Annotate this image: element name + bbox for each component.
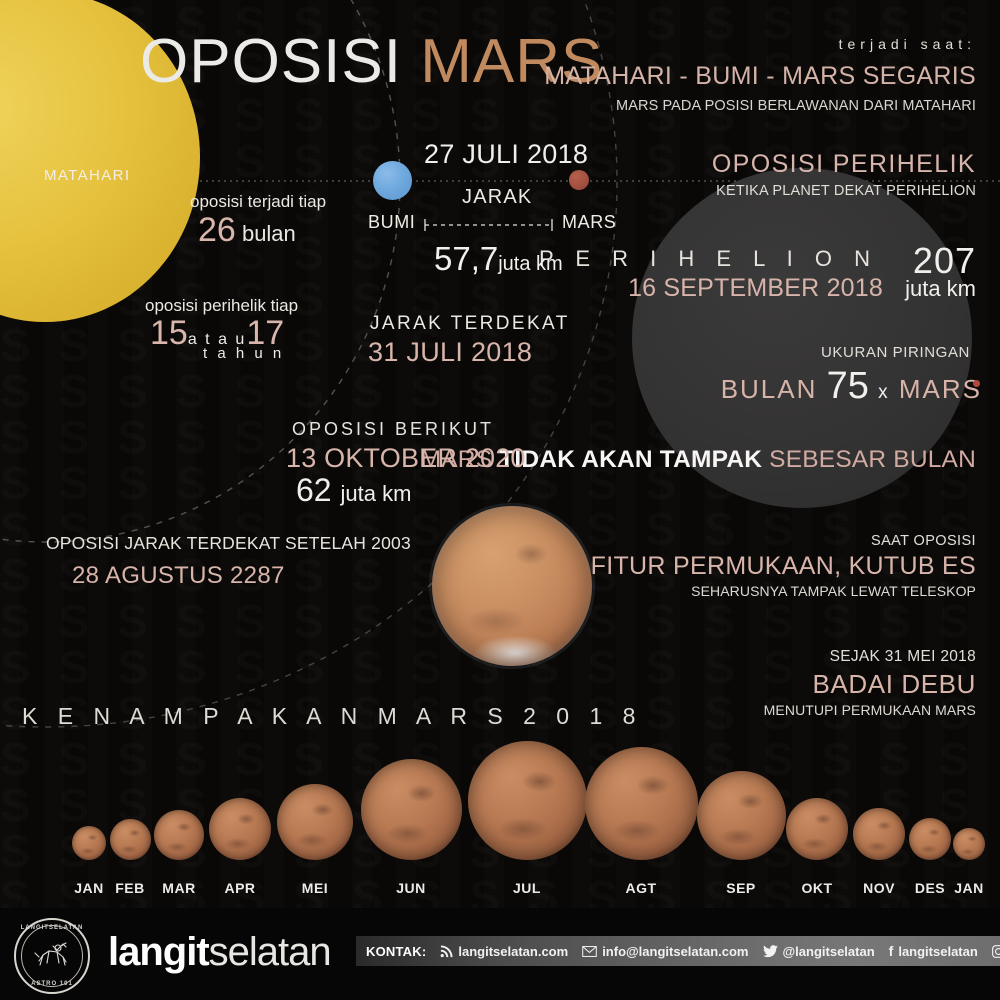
mars-disk-label-nov: NOV	[854, 880, 904, 896]
contact-website-text: langitselatan.com	[458, 944, 568, 959]
logo-bottom-text: ASTRO 101	[16, 981, 88, 987]
langitselatan-logo-badge: LANGITSELATAN ASTRO 101	[14, 918, 90, 994]
mail-icon	[582, 946, 597, 957]
brand-wordmark: langitselatan	[108, 930, 331, 975]
mars-disk-jan	[72, 826, 106, 860]
closest-date: 31 JULI 2018	[368, 337, 532, 368]
mars-disk-label-feb: FEB	[105, 880, 155, 896]
brand-part-selatan: selatan	[209, 930, 331, 974]
mars-apparent-size-chart: JANFEBMARAPRMEIJUNJULAGTSEPOKTNOVDESJAN	[0, 752, 1000, 912]
contact-email-text: info@langitselatan.com	[602, 944, 748, 959]
appearance-heading: K E N A M P A K A N M A R S 2 0 1 8	[22, 703, 642, 730]
mars-disk-label-mei: MEI	[290, 880, 340, 896]
contact-item-website[interactable]: langitselatan.com	[440, 944, 568, 959]
contact-label: KONTAK:	[366, 944, 426, 959]
contact-item-twitter[interactable]: @langitselatan	[763, 944, 875, 959]
mars-disk-agt	[585, 747, 698, 860]
mars-disk-mar	[154, 810, 204, 860]
distance-unit: juta km	[498, 253, 562, 275]
mars-disk-jun	[361, 759, 462, 860]
closest-label: JARAK TERDEKAT	[370, 313, 570, 335]
mars-disk-label-jan: JAN	[944, 880, 994, 896]
mars-disk-mei	[277, 784, 353, 860]
mars-disk-label-okt: OKT	[792, 880, 842, 896]
mars-disk-jan	[953, 828, 985, 860]
mars-disk-sep	[697, 771, 786, 860]
mars-disk-label-apr: APR	[215, 880, 265, 896]
mars-disk-nov	[853, 808, 905, 860]
distance-value-line: 57,7juta km	[434, 240, 563, 278]
next-opposition-distance: 62 juta km	[296, 472, 411, 509]
twitter-icon	[763, 945, 778, 958]
next-opposition-value: 62	[296, 472, 332, 508]
contact-facebook-text: langitselatan	[898, 944, 977, 959]
mars-disk-label-jun: JUN	[386, 880, 436, 896]
instagram-icon	[992, 945, 1000, 958]
mars-disk-des	[909, 818, 951, 860]
sagittarius-centaur-icon	[33, 941, 71, 971]
mars-disk-label-sep: SEP	[716, 880, 766, 896]
mars-disk-label-agt: AGT	[616, 880, 666, 896]
closest-after-2003-date: 28 AGUSTUS 2287	[72, 562, 285, 590]
logo-top-text: LANGITSELATAN	[16, 925, 88, 931]
contact-item-facebook[interactable]: f langitselatan	[889, 944, 978, 959]
mars-disk-feb	[110, 819, 151, 860]
contact-twitter-text: @langitselatan	[783, 944, 875, 959]
contact-item-email[interactable]: info@langitselatan.com	[582, 944, 748, 959]
next-opposition-date: 13 OKTOBER 2020	[286, 443, 526, 474]
next-opposition-unit: juta km	[340, 481, 411, 506]
next-opposition-label: OPOSISI BERIKUT	[292, 419, 494, 440]
mars-disk-label-mar: MAR	[154, 880, 204, 896]
mars-telescope-image	[432, 506, 592, 666]
mars-disk-apr	[209, 798, 271, 860]
facebook-icon: f	[889, 944, 894, 958]
closest-after-2003-label: OPOSISI JARAK TERDEKAT SETELAH 2003	[46, 533, 411, 554]
mars-disk-label-jul: JUL	[502, 880, 552, 896]
rss-icon	[440, 945, 453, 958]
contact-bar: KONTAK: langitselatan.com info@langitsel…	[356, 936, 1000, 966]
infographic-canvas: SSSSSSSSSSSSSSSSSSSSSSSSSSSSSSSSSSSSSSSS…	[0, 0, 1000, 1000]
brand-part-langit: langit	[108, 930, 209, 974]
mars-disk-okt	[786, 798, 848, 860]
contact-item-instagram[interactable]: langitselatanmedia	[992, 944, 1000, 959]
distance-value: 57,7	[434, 240, 498, 277]
mars-disk-jul	[468, 741, 587, 860]
